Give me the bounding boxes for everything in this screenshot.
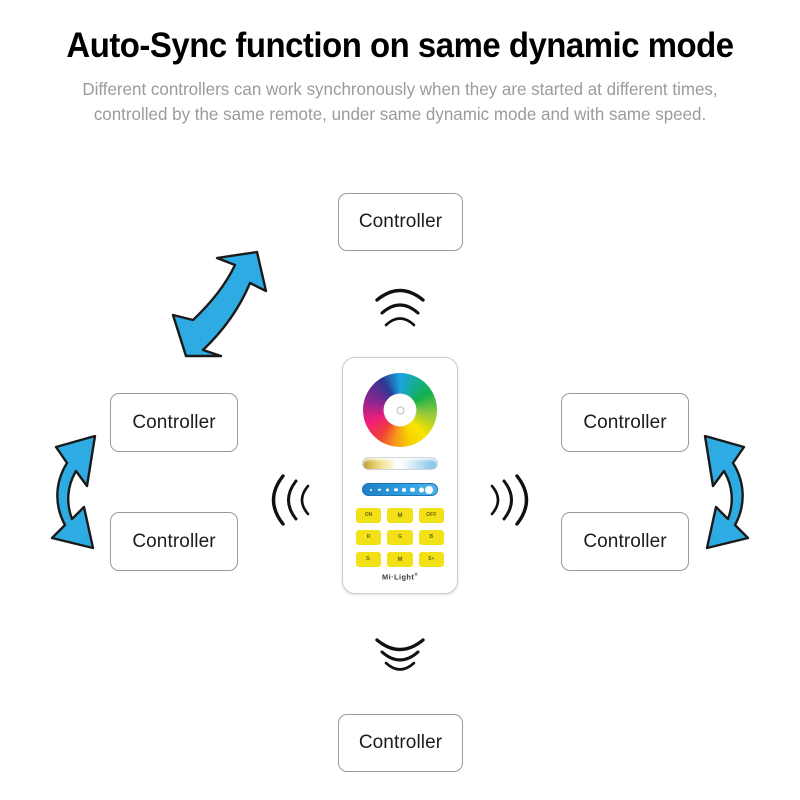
- brand-trademark: ®: [414, 572, 418, 577]
- controller-box-right-lower[interactable]: Controller: [561, 512, 689, 571]
- signal-wave-right: [492, 476, 527, 524]
- color-wheel-center-dot: [396, 406, 404, 414]
- brand-name: Mi·Light: [382, 572, 414, 581]
- controller-label: Controller: [359, 732, 442, 754]
- controller-label: Controller: [583, 531, 666, 553]
- brightness-tick: [394, 488, 398, 492]
- brand-logo: Mi·Light®: [343, 572, 457, 582]
- sync-arrow-top-left: [173, 252, 266, 356]
- key-mode-2[interactable]: M: [387, 552, 412, 567]
- brightness-tick: [386, 488, 389, 491]
- key-speed-down[interactable]: S-: [356, 552, 381, 567]
- key-b[interactable]: B: [419, 530, 444, 545]
- key-g[interactable]: G: [387, 530, 412, 545]
- key-r[interactable]: R: [356, 530, 381, 545]
- key-on[interactable]: ON: [356, 508, 381, 523]
- brightness-tick: [410, 487, 415, 492]
- brightness-tick: [370, 489, 372, 491]
- controller-label: Controller: [583, 412, 666, 434]
- signal-wave-up: [377, 291, 423, 326]
- controller-box-right-upper[interactable]: Controller: [561, 393, 689, 452]
- brightness-tick: [378, 488, 381, 491]
- sync-arrow-right: [705, 436, 748, 548]
- controller-label: Controller: [132, 531, 215, 553]
- sync-diagram: .arw { fill:#2EABE2; stroke:#1a1a1a; str…: [0, 0, 800, 800]
- key-off[interactable]: OFF: [419, 508, 444, 523]
- key-speed-up[interactable]: S+: [419, 552, 444, 567]
- brightness-tick: [419, 487, 424, 492]
- controller-label: Controller: [132, 412, 215, 434]
- color-wheel-hub: [384, 394, 417, 427]
- brightness-tick: [402, 488, 406, 492]
- brightness-sun-icon: [425, 486, 433, 494]
- color-wheel[interactable]: [363, 373, 437, 447]
- controller-box-left-upper[interactable]: Controller: [110, 393, 238, 452]
- signal-wave-left: [274, 476, 309, 524]
- controller-box-bottom[interactable]: Controller: [338, 714, 463, 772]
- controller-label: Controller: [359, 211, 442, 233]
- controller-box-top[interactable]: Controller: [338, 193, 463, 251]
- controller-box-left-lower[interactable]: Controller: [110, 512, 238, 571]
- remote-control[interactable]: ON M OFF R G B S- M S+ Mi·Light®: [342, 357, 458, 594]
- key-mode[interactable]: M: [387, 508, 412, 523]
- sync-arrow-left: [52, 436, 95, 548]
- remote-keypad: ON M OFF R G B S- M S+: [356, 508, 444, 567]
- cct-slider[interactable]: [362, 457, 438, 470]
- signal-wave-down: [377, 640, 423, 670]
- brightness-slider[interactable]: [362, 483, 438, 496]
